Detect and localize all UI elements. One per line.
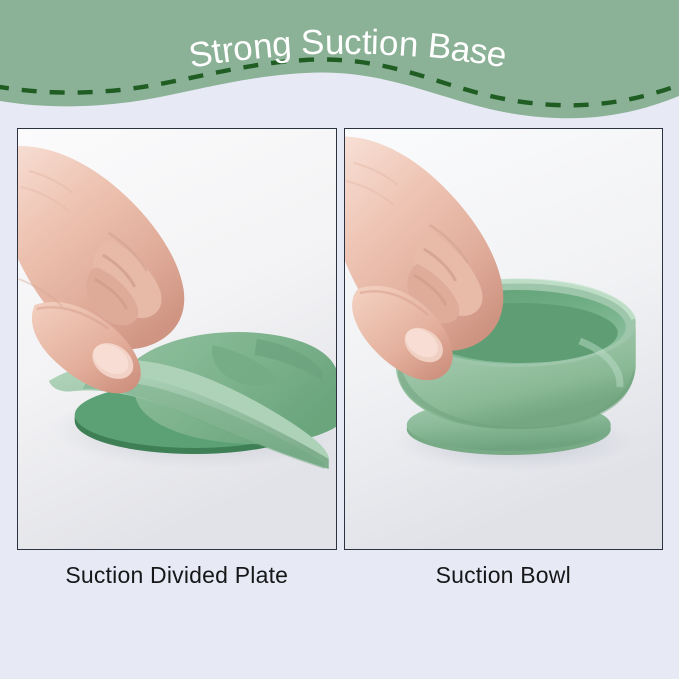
product-feature-image: Strong Suction Base bbox=[0, 0, 679, 679]
header-banner: Strong Suction Base bbox=[0, 0, 679, 135]
photo-suction-divided-plate bbox=[18, 129, 336, 549]
panel-suction-bowl[interactable] bbox=[344, 128, 664, 550]
caption-suction-divided-plate: Suction Divided Plate bbox=[17, 560, 337, 604]
comparison-panels bbox=[17, 128, 663, 550]
photo-suction-bowl bbox=[345, 129, 663, 549]
panel-suction-divided-plate[interactable] bbox=[17, 128, 337, 550]
caption-suction-bowl: Suction Bowl bbox=[344, 560, 664, 604]
panel-captions: Suction Divided Plate Suction Bowl bbox=[17, 560, 663, 604]
banner-wave-shape bbox=[0, 0, 679, 135]
